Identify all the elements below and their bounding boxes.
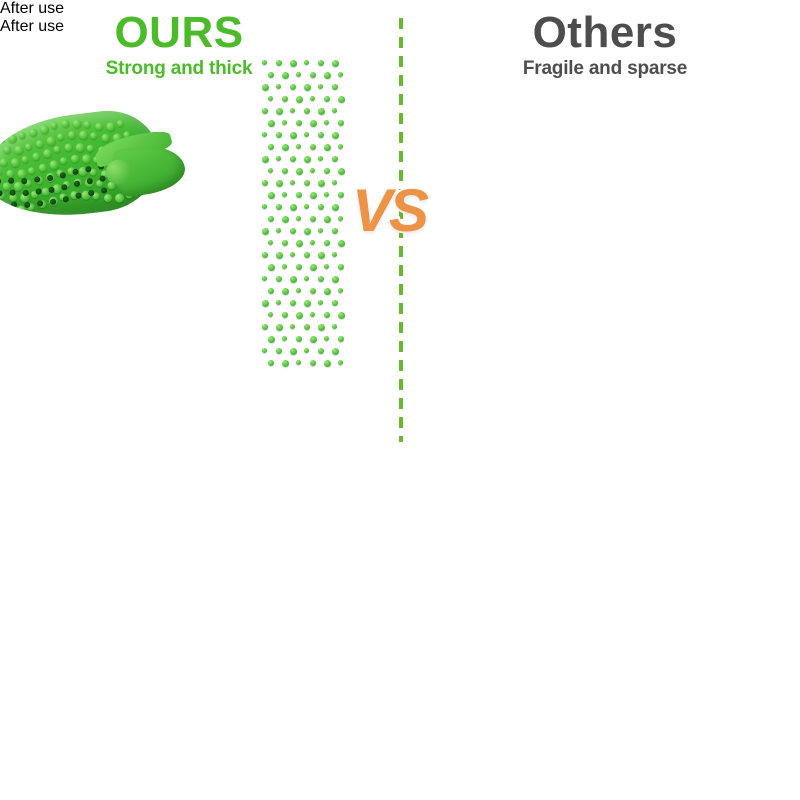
texture-nub: [290, 132, 297, 139]
texture-nub: [276, 108, 283, 115]
texture-nub: [262, 180, 268, 186]
texture-nub: [282, 96, 288, 102]
texture-nub: [304, 156, 311, 163]
texture-nub: [50, 121, 58, 129]
ours-product-full: [232, 36, 372, 424]
texture-nub: [70, 154, 79, 163]
texture-nub: [268, 144, 274, 150]
texture-nub: [310, 288, 316, 294]
texture-nub: [318, 252, 325, 259]
texture-nub: [262, 348, 267, 353]
texture-nub: [332, 60, 339, 67]
infographic-page: OURS Strong and thick Others Fragile and…: [0, 0, 800, 800]
versus-icon: VS: [352, 176, 426, 245]
texture-nub: [310, 192, 317, 199]
texture-nub: [338, 288, 343, 293]
texture-nub: [324, 360, 331, 367]
texture-nub: [324, 96, 330, 102]
ours-full-nub-texture: [254, 46, 346, 376]
texture-nub: [324, 168, 330, 174]
texture-nub: [310, 336, 317, 343]
texture-nub: [296, 192, 302, 198]
texture-nub: [332, 324, 337, 329]
texture-nub: [75, 143, 85, 153]
texture-nub: [324, 192, 329, 197]
texture-nub: [332, 276, 339, 283]
texture-nub: [0, 158, 8, 167]
texture-nub: [296, 312, 303, 319]
texture-nub: [10, 157, 20, 167]
texture-nub: [304, 132, 309, 137]
texture-nub: [338, 360, 343, 365]
texture-nub: [276, 300, 281, 305]
texture-nub: [332, 180, 337, 185]
texture-nub: [296, 216, 301, 221]
texture-nub: [310, 216, 316, 222]
texture-nub: [296, 360, 301, 365]
texture-nub: [338, 264, 344, 270]
texture-nub: [82, 154, 92, 164]
texture-nub: [296, 120, 302, 126]
texture-nub: [290, 300, 296, 306]
texture-nub: [296, 96, 303, 103]
texture-hole: [0, 202, 4, 209]
texture-nub: [276, 132, 282, 138]
texture-nub: [310, 264, 317, 271]
texture-nub: [262, 300, 269, 307]
texture-nub: [262, 60, 267, 65]
texture-nub: [282, 144, 289, 151]
texture-hole: [21, 177, 28, 184]
texture-hole: [24, 201, 31, 208]
texture-nub: [324, 288, 331, 295]
texture-nub: [332, 252, 337, 257]
texture-nub: [282, 192, 287, 197]
texture-nub: [0, 134, 5, 143]
texture-nub: [60, 156, 68, 164]
texture-nub: [21, 156, 29, 164]
texture-hole: [50, 198, 57, 205]
texture-nub: [262, 84, 269, 91]
texture-nub: [262, 204, 267, 209]
texture-nub: [262, 132, 267, 137]
texture-nub: [61, 119, 70, 128]
texture-nub: [3, 145, 12, 154]
texture-nub: [304, 228, 311, 235]
texture-nub: [338, 120, 344, 126]
texture-nub: [318, 84, 323, 89]
texture-hole: [48, 186, 55, 193]
texture-nub: [318, 108, 325, 115]
texture-nub: [282, 168, 288, 174]
texture-nub: [262, 228, 269, 235]
texture-nub: [318, 324, 325, 331]
texture-nub: [310, 96, 315, 101]
texture-nub: [282, 360, 289, 367]
texture-nub: [57, 132, 65, 140]
texture-nub: [318, 204, 324, 210]
texture-nub: [310, 120, 317, 127]
texture-nub: [290, 252, 295, 257]
texture-nub: [324, 240, 330, 246]
texture-nub: [296, 288, 301, 293]
texture-nub: [332, 348, 339, 355]
texture-nub: [318, 228, 323, 233]
texture-nub: [324, 216, 331, 223]
texture-nub: [318, 348, 324, 354]
texture-nub: [276, 60, 282, 66]
texture-nub: [268, 192, 275, 199]
texture-nub: [18, 132, 26, 140]
texture-nub: [276, 204, 282, 210]
texture-nub: [0, 168, 2, 176]
comparison-panel: OURS Strong and thick Others Fragile and…: [0, 0, 800, 462]
texture-nub: [53, 145, 61, 153]
texture-nub: [276, 276, 282, 282]
texture-nub: [28, 167, 36, 175]
texture-nub: [304, 300, 311, 307]
texture-nub: [296, 264, 302, 270]
texture-nub: [332, 156, 338, 162]
texture-nub: [310, 168, 315, 173]
texture-nub: [304, 84, 311, 91]
texture-nub: [268, 120, 275, 127]
texture-nub: [318, 300, 323, 305]
texture-nub: [290, 348, 297, 355]
texture-nub: [268, 360, 274, 366]
texture-nub: [68, 131, 77, 140]
texture-nub: [282, 240, 288, 246]
texture-nub: [318, 60, 324, 66]
texture-nub: [290, 108, 295, 113]
texture-nub: [290, 324, 295, 329]
ours-product-closeup: [0, 96, 186, 237]
texture-nub: [304, 324, 310, 330]
texture-nub: [324, 312, 330, 318]
texture-nub: [268, 168, 273, 173]
texture-nub: [310, 360, 316, 366]
texture-nub: [338, 336, 344, 342]
texture-nub: [276, 324, 283, 331]
texture-nub: [32, 152, 41, 161]
texture-nub: [25, 143, 33, 151]
texture-hole: [35, 188, 42, 195]
texture-nub: [268, 216, 274, 222]
texture-nub: [310, 312, 315, 317]
texture-nub: [332, 228, 338, 234]
texture-nub: [290, 276, 297, 283]
texture-nub: [276, 252, 283, 259]
texture-nub: [103, 193, 112, 202]
texture-nub: [310, 240, 315, 245]
texture-nub: [276, 348, 282, 354]
texture-hole: [0, 178, 1, 185]
texture-nub: [29, 129, 38, 138]
texture-nub: [262, 156, 269, 163]
texture-nub: [268, 312, 273, 317]
texture-nub: [14, 145, 24, 155]
texture-nub: [262, 276, 267, 281]
texture-nub: [304, 108, 310, 114]
texture-nub: [6, 169, 15, 178]
texture-nub: [43, 148, 53, 158]
texture-nub: [324, 264, 329, 269]
texture-hole: [74, 181, 81, 188]
texture-nub: [332, 300, 338, 306]
texture-nub: [324, 72, 331, 79]
texture-nub: [282, 72, 289, 79]
texture-nub: [262, 108, 268, 114]
texture-nub: [318, 156, 323, 161]
texture-nub: [268, 288, 274, 294]
texture-hole: [47, 174, 54, 181]
texture-hole: [99, 175, 106, 182]
texture-nub: [83, 121, 91, 129]
texture-nub: [290, 228, 296, 234]
texture-nub: [304, 276, 309, 281]
texture-nub: [90, 132, 98, 140]
texture-nub: [282, 216, 289, 223]
texture-nub: [318, 132, 324, 138]
texture-nub: [282, 264, 287, 269]
texture-nub: [276, 156, 281, 161]
texture-nub: [304, 252, 310, 258]
texture-nub: [310, 72, 316, 78]
texture-hole: [61, 184, 68, 191]
texture-nub: [304, 204, 309, 209]
texture-nub: [262, 324, 268, 330]
texture-nub: [290, 204, 297, 211]
texture-nub: [282, 288, 289, 295]
texture-nub: [268, 336, 275, 343]
texture-hole: [101, 187, 108, 194]
texture-hole: [62, 196, 69, 203]
texture-nub: [304, 180, 310, 186]
ours-full-body: [254, 46, 346, 376]
texture-nub: [64, 143, 73, 152]
texture-nub: [304, 348, 309, 353]
texture-hole: [72, 169, 79, 176]
texture-nub: [276, 180, 283, 187]
texture-nub: [268, 240, 273, 245]
texture-nub: [338, 192, 344, 198]
texture-nub: [332, 132, 339, 139]
texture-nub: [318, 276, 324, 282]
texture-nub: [296, 72, 301, 77]
texture-nub: [40, 124, 50, 134]
texture-nub: [296, 168, 303, 175]
texture-nub: [276, 84, 281, 89]
texture-nub: [296, 240, 303, 247]
texture-hole: [60, 172, 67, 179]
texture-nub: [296, 336, 302, 342]
texture-nub: [268, 96, 273, 101]
texture-nub: [310, 144, 316, 150]
texture-nub: [8, 134, 18, 144]
texture-nub: [276, 228, 281, 233]
texture-nub: [46, 136, 56, 146]
texture-nub: [38, 164, 47, 173]
texture-nub: [290, 60, 297, 67]
texture-nub: [332, 204, 339, 211]
texture-nub: [290, 84, 296, 90]
texture-hole: [22, 189, 29, 196]
texture-hole: [75, 193, 82, 200]
texture-nub: [290, 180, 295, 185]
texture-nub: [338, 96, 345, 103]
texture-nub: [72, 119, 82, 129]
texture-nub: [338, 168, 345, 175]
texture-nub: [268, 264, 275, 271]
texture-nub: [290, 156, 296, 162]
texture-nub: [106, 122, 116, 132]
texture-nub: [324, 144, 331, 151]
texture-nub: [268, 72, 274, 78]
texture-nub: [332, 84, 338, 90]
texture-nub: [324, 120, 329, 125]
texture-nub: [332, 108, 337, 113]
texture-nub: [338, 216, 343, 221]
texture-nub: [338, 312, 345, 319]
texture-nub: [296, 144, 301, 149]
texture-nub: [79, 131, 89, 141]
texture-nub: [324, 336, 329, 341]
texture-nub: [95, 122, 104, 131]
texture-nub: [282, 120, 287, 125]
texture-nub: [338, 240, 345, 247]
texture-nub: [35, 140, 44, 149]
texture-nub: [101, 133, 110, 142]
texture-nub: [49, 159, 59, 169]
texture-nub: [282, 312, 288, 318]
texture-nub: [318, 180, 325, 187]
texture-nub: [86, 145, 94, 153]
texture-nub: [338, 72, 343, 77]
texture-nub: [304, 60, 309, 65]
texture-nub: [117, 120, 125, 128]
texture-nub: [262, 252, 268, 258]
texture-nub: [282, 336, 287, 341]
texture-nub: [338, 144, 343, 149]
